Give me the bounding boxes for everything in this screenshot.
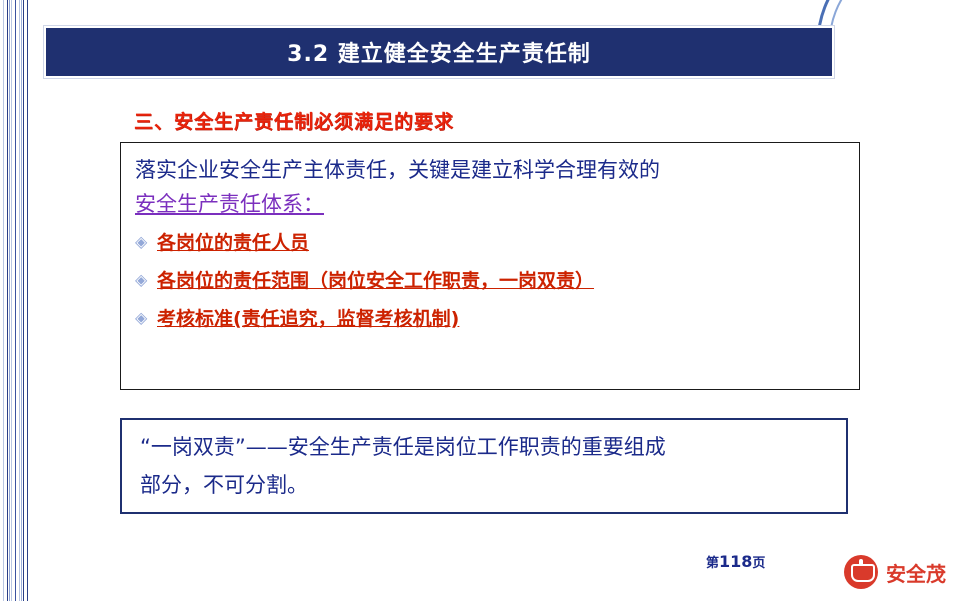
page-title: 3.2 建立健全安全生产责任制 [287,36,591,68]
page-number-prefix: 第 [706,556,719,571]
list-item: ◈ 各岗位的责任人员 [135,227,845,259]
lock-logo-icon [844,555,878,589]
left-stripe-decoration-inner [0,0,30,601]
section-heading: 三、安全生产责任制必须满足的要求 [134,107,454,134]
left-stripe-decoration [0,0,30,601]
quote-line-2: 部分，不可分割。 [140,466,828,504]
intro-line: 落实企业安全生产主体责任，关键是建立科学合理有效的 [135,153,845,187]
list-item: ◈ 考核标准(责任追究，监督考核机制) [135,303,845,335]
diamond-bullet-icon: ◈ [135,303,157,335]
slide-canvas: 3.2 建立健全安全生产责任制 三、安全生产责任制必须满足的要求 落实企业安全生… [0,0,960,601]
quote-box: “一岗双责”——安全生产责任是岗位工作职责的重要组成 部分，不可分割。 [120,418,848,514]
watermark-label: 安全茂 [886,558,946,587]
list-item-label: 考核标准(责任追究，监督考核机制) [157,303,459,335]
diamond-bullet-icon: ◈ [135,265,157,297]
list-item: ◈ 各岗位的责任范围（岗位安全工作职责，一岗双责） [135,265,845,297]
slide-title-bar: 3.2 建立健全安全生产责任制 [44,26,834,78]
page-number-value: 118 [719,552,752,571]
watermark: 安全茂 [844,555,946,589]
page-number-suffix: 页 [752,556,765,571]
list-item-label: 各岗位的责任人员 [157,227,309,259]
highlight-line: 安全生产责任体系： [135,187,845,221]
quote-line-1: “一岗双责”——安全生产责任是岗位工作职责的重要组成 [140,428,828,466]
diamond-bullet-icon: ◈ [135,227,157,259]
list-item-label: 各岗位的责任范围（岗位安全工作职责，一岗双责） [157,265,594,297]
content-box: 落实企业安全生产主体责任，关键是建立科学合理有效的 安全生产责任体系： ◈ 各岗… [120,142,860,390]
page-number: 第118页 [706,552,765,571]
